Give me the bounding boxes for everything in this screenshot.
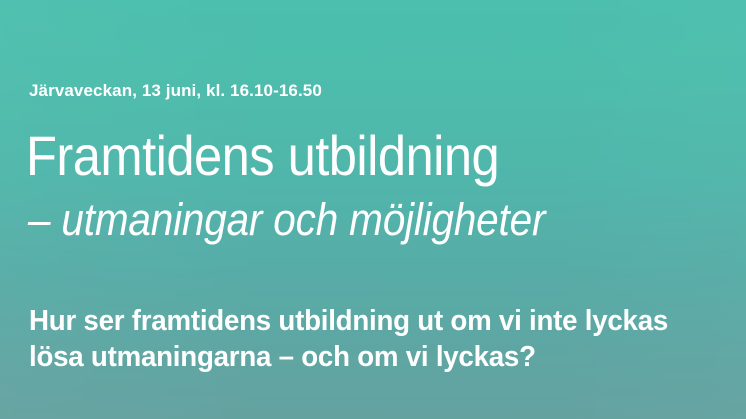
poster-lede-line-1: Hur ser framtidens utbildning ut om vi i… <box>29 303 688 339</box>
poster-lede: Hur ser framtidens utbildning ut om vi i… <box>29 303 688 375</box>
poster-lede-line-2: lösa utmaningarna – och om vi lyckas? <box>29 339 688 375</box>
poster-subtitle: – utmaningar och möjligheter <box>28 196 545 244</box>
event-poster: Järvaveckan, 13 juni, kl. 16.10-16.50 Fr… <box>0 0 746 419</box>
poster-content: Järvaveckan, 13 juni, kl. 16.10-16.50 Fr… <box>29 0 722 419</box>
poster-title: Framtidens utbildning <box>26 127 499 185</box>
event-meta-line: Järvaveckan, 13 juni, kl. 16.10-16.50 <box>29 81 322 101</box>
